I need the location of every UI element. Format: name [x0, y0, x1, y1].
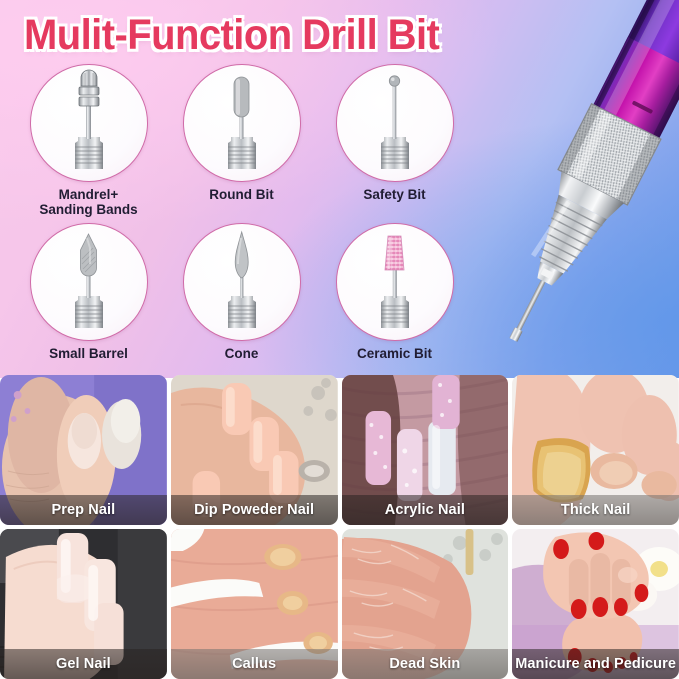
drill-bit-item-mandrel[interactable]: Mandrel+ Sanding Bands — [22, 64, 155, 217]
bit-circle — [30, 64, 148, 182]
bit-label: Round Bit — [209, 187, 273, 202]
small-barrel-bit-icon — [31, 224, 147, 340]
safety-bit-icon — [337, 65, 453, 181]
tile-gel-nail[interactable]: Gel Nail — [0, 529, 167, 679]
bit-circle — [183, 223, 301, 341]
bit-label: Mandrel+ Sanding Bands — [39, 187, 137, 217]
usage-photo-grid: Prep Nail — [0, 375, 679, 679]
tile-caption: Manicure and Pedicure — [512, 649, 679, 679]
ceramic-bit-icon — [337, 224, 453, 340]
tile-callus[interactable]: Callus — [171, 529, 338, 679]
drill-bit-item-ceramic[interactable]: Ceramic Bit — [328, 223, 461, 361]
tile-manicure-pedicure[interactable]: Manicure and Pedicure — [512, 529, 679, 679]
drill-bit-gallery: Mandrel+ Sanding Bands — [22, 64, 462, 367]
bit-label: Small Barrel — [49, 346, 128, 361]
bit-label: Safety Bit — [363, 187, 425, 202]
drill-bit-item-cone[interactable]: Cone — [175, 223, 308, 361]
drill-bit-item-small-barrel[interactable]: Small Barrel — [22, 223, 155, 361]
bit-circle — [183, 64, 301, 182]
tile-acrylic-nail[interactable]: Acrylic Nail — [342, 375, 509, 525]
tile-caption: Thick Nail — [512, 495, 679, 525]
tile-caption: Prep Nail — [0, 495, 167, 525]
cone-bit-icon — [184, 224, 300, 340]
bit-circle — [30, 223, 148, 341]
tile-caption: Acrylic Nail — [342, 495, 509, 525]
drill-bit-row-1: Mandrel+ Sanding Bands — [22, 64, 462, 217]
bit-circle — [336, 223, 454, 341]
drill-bit-item-round[interactable]: Round Bit — [175, 64, 308, 217]
mandrel-bit-icon — [31, 65, 147, 181]
drill-bit-row-2: Small Barrel — [22, 223, 462, 361]
tile-prep-nail[interactable]: Prep Nail — [0, 375, 167, 525]
tile-dip-powder-nail[interactable]: Dip Poweder Nail — [171, 375, 338, 525]
round-bit-icon — [184, 65, 300, 181]
bit-label: Ceramic Bit — [357, 346, 432, 361]
page-title: Mulit-Function Drill Bit — [24, 10, 439, 60]
drill-bit-item-safety[interactable]: Safety Bit — [328, 64, 461, 217]
tile-caption: Dead Skin — [342, 649, 509, 679]
tile-caption: Dip Poweder Nail — [171, 495, 338, 525]
tile-dead-skin[interactable]: Dead Skin — [342, 529, 509, 679]
bit-circle — [336, 64, 454, 182]
tile-caption: Gel Nail — [0, 649, 167, 679]
bit-label: Cone — [225, 346, 259, 361]
product-infographic: Mulit-Function Drill Bit — [0, 0, 679, 679]
tile-thick-nail[interactable]: Thick Nail — [512, 375, 679, 525]
tile-caption: Callus — [171, 649, 338, 679]
